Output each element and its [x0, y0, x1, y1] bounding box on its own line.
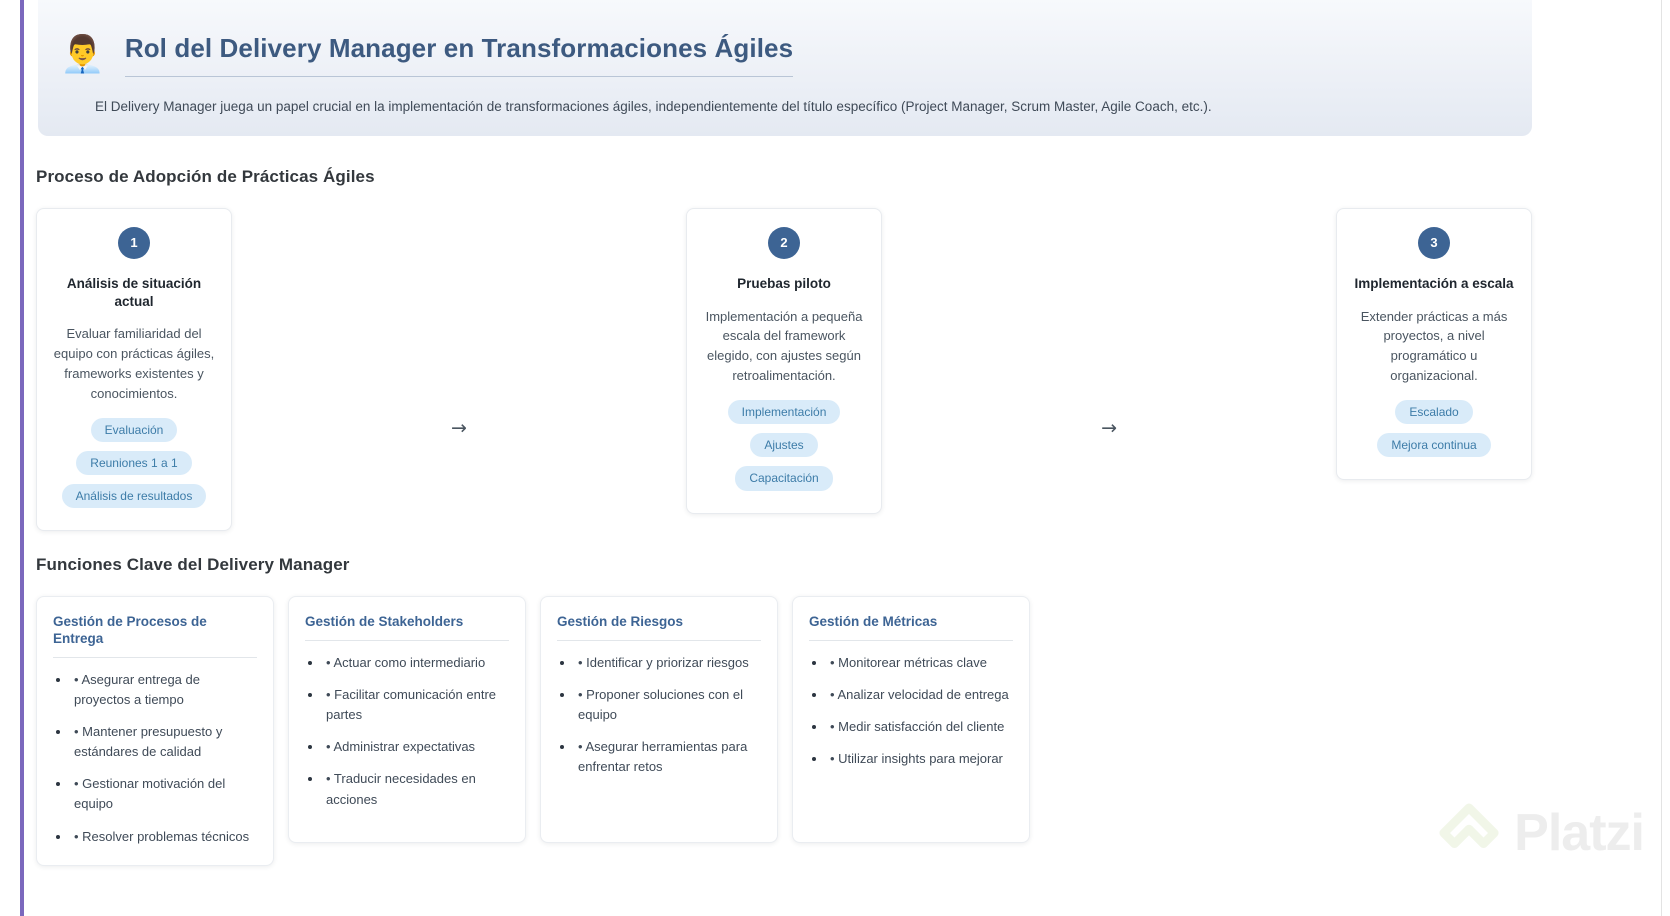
- function-card[interactable]: Gestión de Métricas • Monitorear métrica…: [792, 596, 1030, 843]
- step-number-badge: 2: [768, 227, 800, 259]
- step-tag-list: Escalado Mejora continua: [1351, 400, 1517, 457]
- step-tag[interactable]: Ajustes: [750, 433, 817, 457]
- function-list-item: • Asegurar herramientas para enfrentar r…: [575, 737, 761, 777]
- process-steps-row: 1 Análisis de situación actual Evaluar f…: [36, 208, 1532, 508]
- function-card-title: Gestión de Stakeholders: [305, 614, 509, 641]
- arrow-right-icon: →: [1101, 419, 1117, 438]
- page-root: 👨‍💼 Rol del Delivery Manager en Transfor…: [0, 0, 1670, 916]
- step-tag[interactable]: Escalado: [1395, 400, 1472, 424]
- step-tag-list: Implementación Ajustes Capacitación: [701, 400, 867, 491]
- step-tag[interactable]: Implementación: [728, 400, 841, 424]
- function-list-item: • Traducir necesidades en acciones: [323, 769, 509, 809]
- step-tag-list: Evaluación Reuniones 1 a 1 Análisis de r…: [51, 418, 217, 509]
- section-heading-functions: Funciones Clave del Delivery Manager: [36, 555, 350, 575]
- step-description: Implementación a pequeña escala del fram…: [701, 307, 867, 387]
- platzi-logo-icon: [1438, 802, 1500, 864]
- platzi-watermark: Platzi: [1438, 802, 1644, 864]
- function-list-item: • Utilizar insights para mejorar: [827, 749, 1013, 769]
- step-title: Análisis de situación actual: [51, 275, 217, 310]
- process-step-card[interactable]: 3 Implementación a escala Extender práct…: [1336, 208, 1532, 480]
- function-list-item: • Medir satisfacción del cliente: [827, 717, 1013, 737]
- step-tag[interactable]: Mejora continua: [1377, 433, 1490, 457]
- function-list-item: • Gestionar motivación del equipo: [71, 774, 257, 814]
- vertical-scrollbar[interactable]: [1661, 0, 1670, 916]
- step-description: Evaluar familiaridad del equipo con prác…: [51, 324, 217, 404]
- hero-panel: 👨‍💼 Rol del Delivery Manager en Transfor…: [38, 0, 1532, 136]
- step-tag[interactable]: Capacitación: [735, 466, 832, 490]
- function-card-title: Gestión de Riesgos: [557, 614, 761, 641]
- office-worker-icon: 👨‍💼: [60, 37, 105, 73]
- function-card-title: Gestión de Procesos de Entrega: [53, 614, 257, 658]
- step-description: Extender prácticas a más proyectos, a ni…: [1351, 307, 1517, 387]
- function-list-item: • Identificar y priorizar riesgos: [575, 653, 761, 673]
- hero-subtitle: El Delivery Manager juega un papel cruci…: [95, 99, 1212, 114]
- function-item-list: • Monitorear métricas clave • Analizar v…: [809, 645, 1013, 770]
- page-title: Rol del Delivery Manager en Transformaci…: [125, 33, 793, 77]
- functions-card-row: Gestión de Procesos de Entrega • Asegura…: [36, 596, 1032, 866]
- function-list-item: • Analizar velocidad de entrega: [827, 685, 1013, 705]
- function-item-list: • Asegurar entrega de proyectos a tiempo…: [53, 662, 257, 847]
- function-item-list: • Actuar como intermediario • Facilitar …: [305, 645, 509, 810]
- function-card[interactable]: Gestión de Stakeholders • Actuar como in…: [288, 596, 526, 843]
- function-list-item: • Administrar expectativas: [323, 737, 509, 757]
- function-card-title: Gestión de Métricas: [809, 614, 1013, 641]
- function-list-item: • Mantener presupuesto y estándares de c…: [71, 722, 257, 762]
- arrow-right-icon: →: [451, 419, 467, 438]
- function-list-item: • Proponer soluciones con el equipo: [575, 685, 761, 725]
- step-title: Implementación a escala: [1351, 275, 1517, 293]
- function-card[interactable]: Gestión de Riesgos • Identificar y prior…: [540, 596, 778, 843]
- scrollbar-thumb[interactable]: [1662, 0, 1669, 330]
- function-item-list: • Identificar y priorizar riesgos • Prop…: [557, 645, 761, 778]
- step-title: Pruebas piloto: [701, 275, 867, 293]
- process-step-card[interactable]: 2 Pruebas piloto Implementación a pequeñ…: [686, 208, 882, 514]
- function-list-item: • Asegurar entrega de proyectos a tiempo: [71, 670, 257, 710]
- step-number-badge: 3: [1418, 227, 1450, 259]
- process-step-card[interactable]: 1 Análisis de situación actual Evaluar f…: [36, 208, 232, 531]
- function-list-item: • Resolver problemas técnicos: [71, 827, 257, 847]
- step-tag[interactable]: Evaluación: [91, 418, 178, 442]
- step-tag[interactable]: Reuniones 1 a 1: [76, 451, 191, 475]
- left-accent-rail: [20, 0, 24, 916]
- function-list-item: • Actuar como intermediario: [323, 653, 509, 673]
- hero-title-row: 👨‍💼 Rol del Delivery Manager en Transfor…: [60, 16, 793, 95]
- function-card[interactable]: Gestión de Procesos de Entrega • Asegura…: [36, 596, 274, 866]
- step-tag[interactable]: Análisis de resultados: [62, 484, 207, 508]
- platzi-wordmark: Platzi: [1514, 807, 1644, 859]
- section-heading-process: Proceso de Adopción de Prácticas Ágiles: [36, 167, 375, 187]
- step-number-badge: 1: [118, 227, 150, 259]
- function-list-item: • Facilitar comunicación entre partes: [323, 685, 509, 725]
- function-list-item: • Monitorear métricas clave: [827, 653, 1013, 673]
